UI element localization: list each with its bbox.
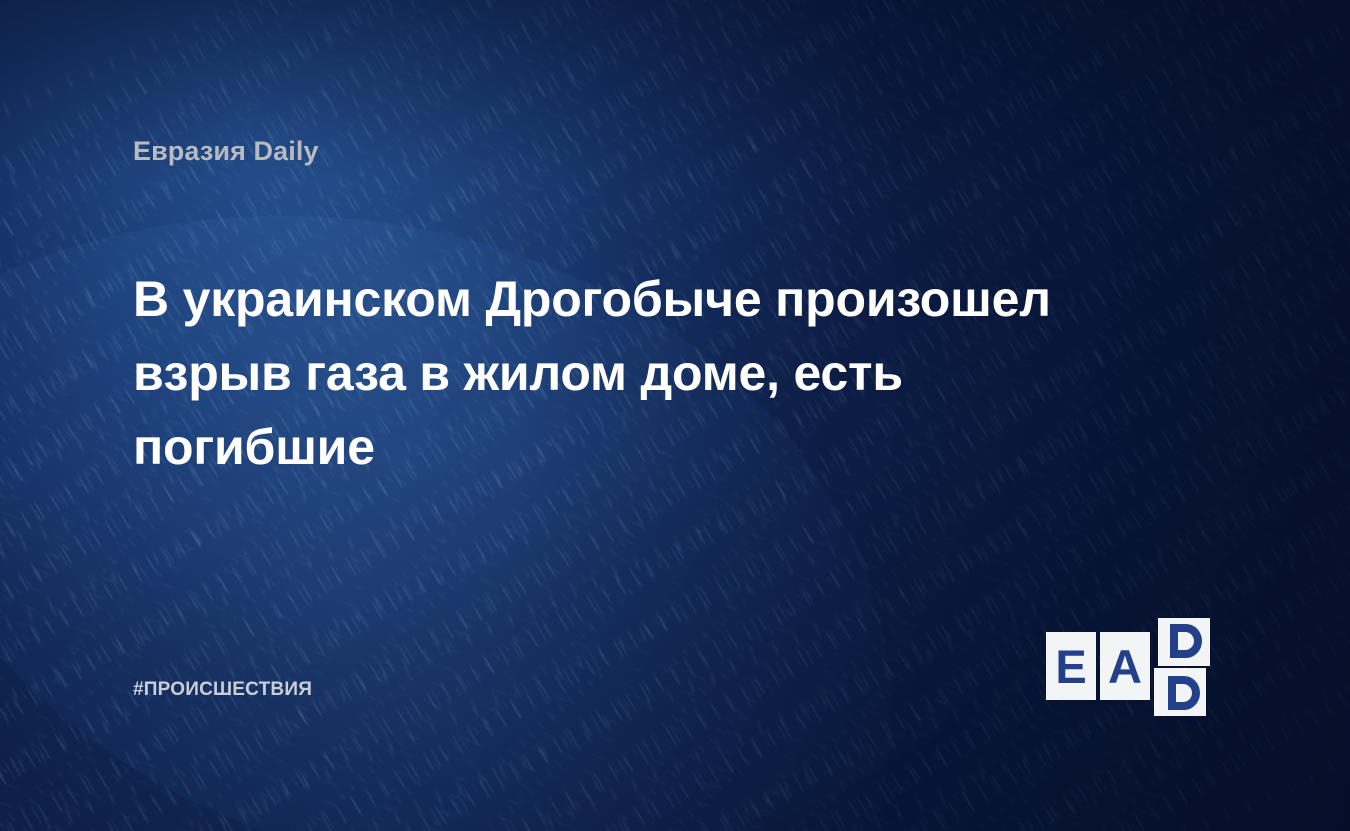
category-hashtag: #ПРОИСШЕСТВИЯ [133, 679, 312, 701]
news-share-card: Евразия Daily В украинском Дрогобыче про… [0, 0, 1350, 831]
logo-letter-d-lower-half [1154, 668, 1206, 716]
publication-name: Евразия Daily [133, 136, 319, 167]
ead-logo: E A [1046, 612, 1224, 706]
logo-tile-a: A [1100, 632, 1150, 700]
logo-tile-d-lower [1154, 668, 1206, 716]
logo-tile-e: E [1046, 632, 1096, 700]
logo-tile-d-upper [1158, 618, 1210, 666]
logo-letter-d-upper-half [1158, 618, 1210, 666]
logo-letter-a: A [1108, 643, 1142, 690]
logo-letter-e: E [1055, 643, 1086, 690]
headline: В украинском Дрогобыче произошел взрыв г… [133, 262, 1143, 484]
